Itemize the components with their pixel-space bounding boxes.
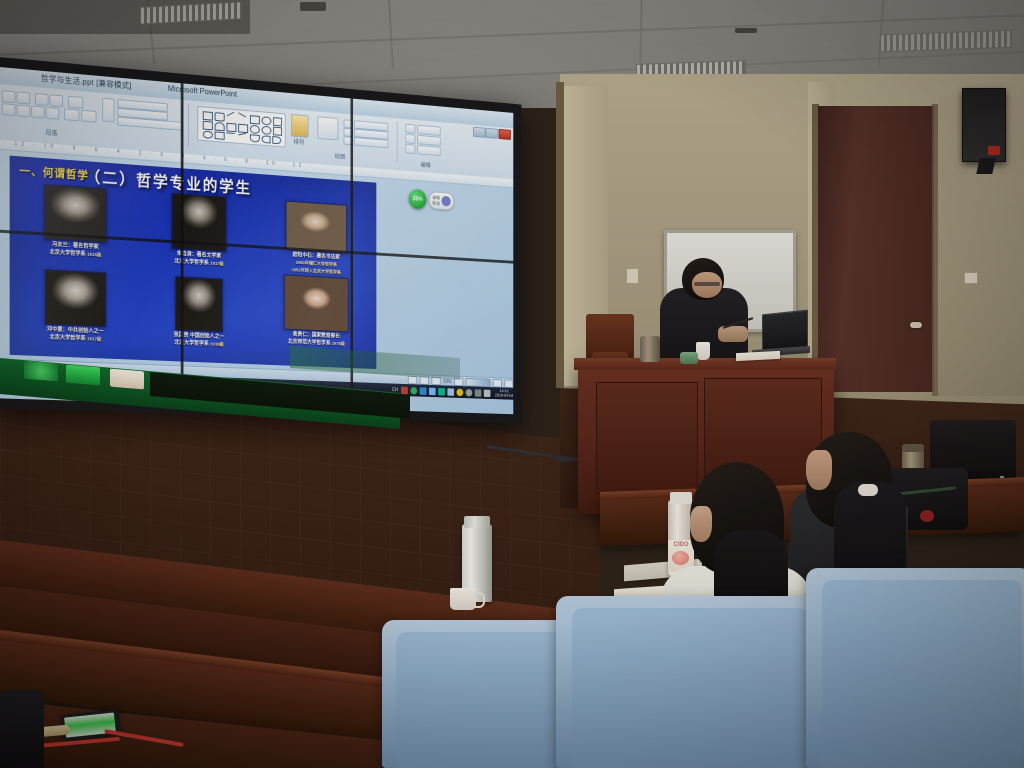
ceiling-sensor xyxy=(735,28,757,33)
taskbar-clock[interactable]: 14:12 2019-04-04 xyxy=(495,389,513,398)
led-icon-green xyxy=(24,361,58,382)
shape-flow-icon[interactable] xyxy=(215,131,225,139)
person-affiliation: 北京大学哲学系 xyxy=(174,259,209,267)
taskbar-icon-cloud[interactable] xyxy=(429,387,436,395)
portrait-image xyxy=(45,269,106,327)
portrait-caption: 冯友兰：著名哲学家 北京大学哲学系 1915级 xyxy=(50,242,102,260)
speaker-mount xyxy=(976,158,995,174)
cup-handle xyxy=(474,592,485,608)
door-handle[interactable] xyxy=(910,322,922,328)
bottle-cap xyxy=(670,492,692,504)
recorder-pill[interactable]: 录制 标注 xyxy=(429,191,454,210)
slide-person-5: 张国焘 中国创始人之一 北京大学哲学系 1919级 xyxy=(140,274,257,362)
wall-speaker xyxy=(962,88,1006,162)
shape-oval-icon[interactable] xyxy=(262,116,272,125)
bottle-brand-text: CIDO xyxy=(668,542,694,548)
screen-recorder-widget[interactable]: 35% 录制 标注 xyxy=(409,189,455,212)
led-icon-white xyxy=(110,369,144,390)
ribbon-columns-button[interactable] xyxy=(64,108,79,121)
ceiling-fixture xyxy=(300,2,326,11)
shape-circle-icon[interactable] xyxy=(250,125,260,134)
person-year: 1917级 xyxy=(210,261,223,267)
window-close-button[interactable] xyxy=(499,129,511,140)
wall-outlet[interactable] xyxy=(964,272,978,284)
taskbar-icon-mail[interactable] xyxy=(401,386,408,394)
powerpoint-app-name: Microsoft PowerPoint xyxy=(168,84,237,99)
ribbon-quick-styles-button[interactable] xyxy=(317,116,338,140)
slide-canvas[interactable]: 一、何谓哲学 （二）哲学专业的学生 冯友兰：著名哲学家 北京大学哲学系 1915… xyxy=(10,156,377,369)
shape-box-icon[interactable] xyxy=(273,117,282,126)
slide-person-1: 冯友兰：著名哲学家 北京大学哲学系 1915级 xyxy=(14,182,137,272)
taskbar-icon-wechat[interactable] xyxy=(410,387,417,395)
window-restore-button[interactable] xyxy=(485,128,497,139)
ribbon-decrease-indent-button[interactable] xyxy=(35,93,49,106)
shape-star-icon[interactable] xyxy=(273,127,282,136)
portrait-image xyxy=(284,274,349,332)
podium-front-panel xyxy=(596,382,698,494)
shape-brace-right-icon[interactable] xyxy=(272,136,281,144)
person-name: 袁贵仁：国家教育部长 xyxy=(293,332,340,340)
slide-person-4: 邓中夏：中共创始人之一 北京大学哲学系 1917级 xyxy=(14,267,137,357)
person-affiliation: 北京大学哲学系 xyxy=(50,249,86,257)
ribbon-arrange-button[interactable] xyxy=(291,114,309,138)
ribbon-bullets-button[interactable] xyxy=(2,90,16,103)
person-year: 1951年转入北京大学哲学系 xyxy=(292,267,341,274)
attendee-2-hair-clip xyxy=(858,484,878,496)
window-minimize-button[interactable] xyxy=(473,127,485,138)
ribbon-numbering-button[interactable] xyxy=(16,91,30,104)
green-mug[interactable] xyxy=(680,352,698,364)
ribbon-line-spacing-button[interactable] xyxy=(68,96,83,109)
portrait-image xyxy=(286,201,347,254)
shape-chevron-icon[interactable] xyxy=(226,123,236,132)
shape-oval2-icon[interactable] xyxy=(203,130,213,138)
shape-rectangle-icon[interactable] xyxy=(203,111,213,120)
ribbon-convert-smartart-button[interactable] xyxy=(117,117,182,131)
person-year: 1915级 xyxy=(87,252,101,258)
shape-arrow-icon[interactable] xyxy=(238,112,246,117)
shape-square-icon[interactable] xyxy=(250,115,260,124)
taskbar-icon-shield[interactable] xyxy=(456,388,463,396)
chair-cushion xyxy=(572,608,808,768)
chair-front-right[interactable] xyxy=(806,568,1024,768)
ribbon-select-icon[interactable] xyxy=(405,144,415,154)
thermos-cap xyxy=(464,516,490,528)
door[interactable] xyxy=(818,106,934,392)
wall-trim xyxy=(556,82,564,388)
ribbon-justify-button[interactable] xyxy=(46,107,60,120)
person-affiliation: 北京师范大学哲学系 xyxy=(288,339,331,347)
white-cup[interactable] xyxy=(450,588,476,610)
ribbon-select-button[interactable] xyxy=(417,145,441,156)
taskbar-icon-settings[interactable] xyxy=(465,388,472,396)
fit-to-window-button[interactable] xyxy=(504,379,513,388)
person-year: 1917级 xyxy=(87,336,101,342)
shape-arc-icon[interactable] xyxy=(250,134,260,142)
presenter-glasses xyxy=(694,282,720,286)
wall-switch[interactable] xyxy=(626,268,639,284)
ribbon-align-text-button[interactable] xyxy=(81,110,96,123)
person-affiliation: 1950年辅仁大学哲学系 xyxy=(296,260,337,267)
slide-person-2: 朱自清：著名文学家 北京大学哲学系 1917级 xyxy=(140,191,257,279)
ribbon-separator xyxy=(188,104,189,147)
led-icon-green xyxy=(66,365,100,386)
attendee-2-face xyxy=(806,450,832,490)
slide-kicker: 一、何谓哲学 xyxy=(19,162,88,183)
shape-triangle-icon[interactable] xyxy=(215,122,225,131)
shape-rounded-rect-icon[interactable] xyxy=(215,112,225,121)
recorder-stop-icon[interactable] xyxy=(442,196,451,207)
chair-front-center[interactable] xyxy=(556,596,824,768)
ribbon-align-center-button[interactable] xyxy=(16,104,30,117)
shape-ellipse-icon[interactable] xyxy=(262,126,272,135)
shape-line-icon[interactable] xyxy=(227,112,235,117)
person-affiliation: 北京大学哲学系 xyxy=(174,340,209,347)
taskbar-icon-browser[interactable] xyxy=(419,387,426,395)
taskbar-icon-volume[interactable] xyxy=(483,389,490,397)
shape-brace-left-icon[interactable] xyxy=(262,135,271,143)
zoom-level-label[interactable]: 63% xyxy=(443,379,451,385)
shape-pentagon-icon[interactable] xyxy=(238,124,248,133)
smartphone-screen[interactable] xyxy=(64,713,116,738)
recorder-badge[interactable]: 35% xyxy=(409,189,427,210)
recorder-option-2[interactable]: 标注 xyxy=(432,200,440,205)
ribbon-shapes-gallery[interactable] xyxy=(197,106,285,148)
person-year: 1978级 xyxy=(332,341,345,346)
chair-cushion xyxy=(822,580,1022,768)
slide-person-3: 欧阳中石：著名书法家 1950年辅仁大学哲学系 1951年转入北京大学哲学系 xyxy=(259,199,373,285)
foreground-object xyxy=(0,690,44,768)
paper-cup[interactable] xyxy=(696,342,710,360)
lecture-room-photo: 哲学与生活.ppt [兼容模式] Microsoft PowerPoint 段落 xyxy=(0,0,1024,768)
shape-curve-icon[interactable] xyxy=(226,132,234,134)
taskbar-icon-notes[interactable] xyxy=(447,388,454,396)
ribbon-shape-effects-menu[interactable] xyxy=(354,137,388,148)
ribbon-align-right-button[interactable] xyxy=(31,106,45,119)
taskbar-icon-phone[interactable] xyxy=(438,388,445,396)
speaker-logo xyxy=(988,146,1000,155)
person-affiliation: 北京大学哲学系 xyxy=(50,334,86,341)
taskbar-icon-network[interactable] xyxy=(474,389,481,397)
portrait-caption: 欧阳中石：著名书法家 1950年辅仁大学哲学系 1951年转入北京大学哲学系 xyxy=(292,252,341,277)
zoom-in-button[interactable] xyxy=(493,379,502,388)
shape-rect2-icon[interactable] xyxy=(203,121,213,130)
ribbon-align-left-button[interactable] xyxy=(2,103,16,116)
ribbon-replace-icon[interactable] xyxy=(405,134,415,144)
ribbon-text-direction-button[interactable] xyxy=(102,98,114,123)
clock-date: 2019-04-04 xyxy=(495,392,513,397)
ribbon-find-icon[interactable] xyxy=(405,124,415,134)
attendee-1-ear xyxy=(690,506,712,542)
shape-connector-icon[interactable] xyxy=(238,133,246,136)
person-year: 1919级 xyxy=(210,341,223,346)
bottle-fruit-icon xyxy=(672,551,689,565)
ribbon-increase-indent-button[interactable] xyxy=(50,94,63,107)
view-normal-button[interactable] xyxy=(408,376,417,385)
portrait-caption: 邓中夏：中共创始人之一 北京大学哲学系 1917级 xyxy=(47,327,104,345)
podium-tumbler[interactable] xyxy=(640,336,660,362)
ribbon-separator xyxy=(397,122,398,163)
